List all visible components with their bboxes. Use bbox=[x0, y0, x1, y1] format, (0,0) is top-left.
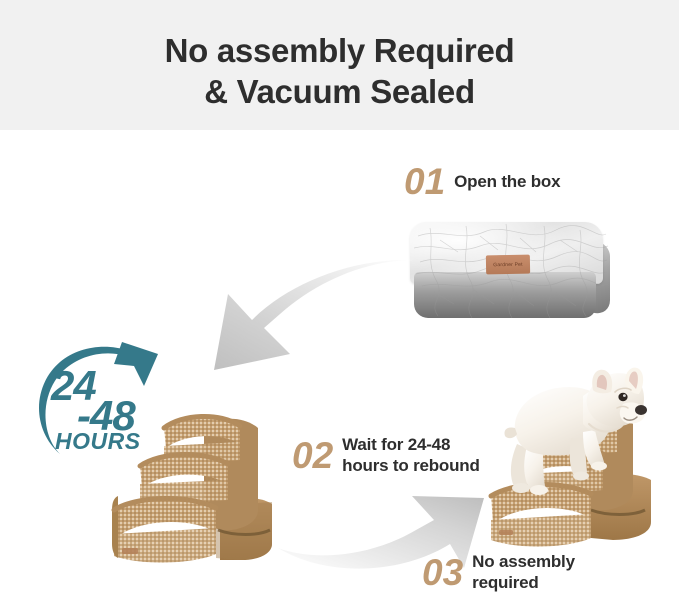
step-03: 03 No assembly required bbox=[422, 551, 575, 593]
step-02-label-line-1: Wait for 24-48 bbox=[342, 434, 480, 455]
infographic-page: No assembly Required & Vacuum Sealed 01 … bbox=[0, 0, 679, 599]
step-03-label: No assembly required bbox=[472, 551, 575, 593]
vacuum-sealed-package-icon: Gardner Pet bbox=[404, 222, 609, 327]
step-02: 02 Wait for 24-48 hours to rebound bbox=[292, 434, 480, 476]
step-03-label-line-1: No assembly bbox=[472, 551, 575, 572]
step-01-label-line-1: Open the box bbox=[454, 171, 560, 192]
arrow-package-to-stairs-icon bbox=[178, 258, 416, 378]
step-02-number: 02 bbox=[292, 437, 333, 474]
package-brand-label: Gardner Pet bbox=[486, 255, 530, 275]
step-01-number: 01 bbox=[404, 163, 445, 200]
step-03-number: 03 bbox=[422, 554, 463, 591]
step-01: 01 Open the box bbox=[404, 163, 560, 200]
step-03-label-line-2: required bbox=[472, 572, 575, 593]
title-line-2: & Vacuum Sealed bbox=[0, 71, 679, 112]
title-line-1: No assembly Required bbox=[0, 30, 679, 71]
french-bulldog-illustration bbox=[497, 366, 647, 518]
page-title: No assembly Required & Vacuum Sealed bbox=[0, 30, 679, 112]
step-02-label-line-2: hours to rebound bbox=[342, 455, 480, 476]
step-01-label: Open the box bbox=[454, 171, 560, 192]
step-02-label: Wait for 24-48 hours to rebound bbox=[342, 434, 480, 476]
